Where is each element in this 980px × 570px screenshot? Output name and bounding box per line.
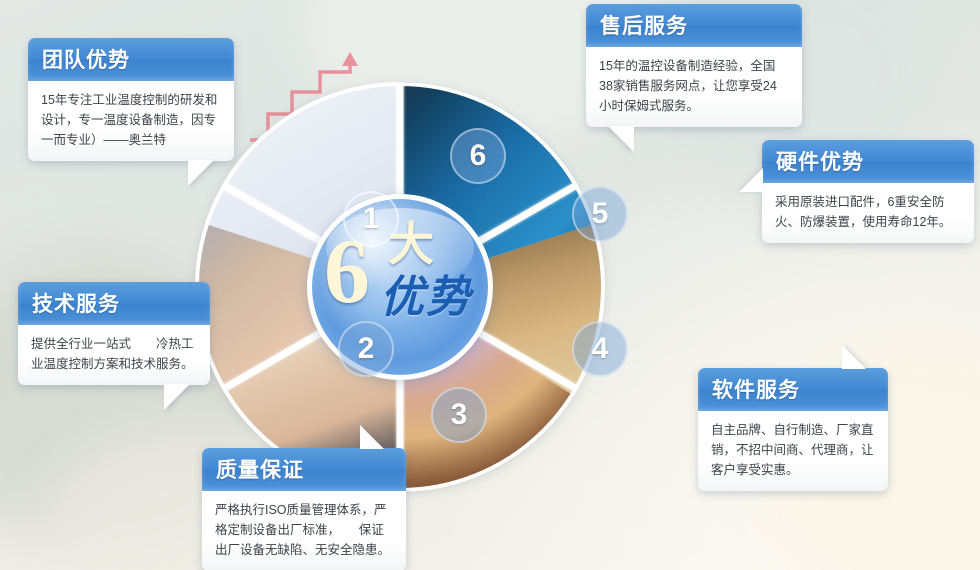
- hub-word-advantage: 优势: [380, 275, 472, 321]
- callout-tail: [360, 425, 384, 449]
- segment-number-4[interactable]: 4: [572, 321, 628, 377]
- callout-card-software[interactable]: 软件服务 自主品牌、自行制造、厂家直销，不招中间商、代理商，让客户享受实惠。: [698, 368, 888, 491]
- segment-number-6[interactable]: 6: [450, 128, 506, 184]
- callout-tail: [188, 160, 214, 186]
- callout-card-team[interactable]: 团队优势 15年专注工业温度控制的研发和设计，专一温度设备制造，因专一而专业）—…: [28, 38, 234, 161]
- six-advantages-wheel: 6 大 优势: [195, 82, 605, 492]
- card-body-hardware: 采用原装进口配件，6重安全防火、防爆装置，使用寿命12年。: [762, 183, 974, 243]
- callout-tail: [164, 384, 190, 410]
- card-body-technical: 提供全行业一站式 冷热工业温度控制方案和技术服务。: [18, 325, 210, 385]
- infographic-canvas: 6 大 优势 1 2 3 4 5 6 团队优势 15年专注工业温度控制的研发和设…: [0, 0, 980, 570]
- card-body-after-sales: 15年的温控设备制造经验，全国38家销售服务网点，让您享受24小时保姆式服务。: [586, 47, 802, 127]
- card-body-software: 自主品牌、自行制造、厂家直销，不招中间商、代理商，让客户享受实惠。: [698, 411, 888, 491]
- callout-card-quality[interactable]: 质量保证 严格执行ISO质量管理体系，严格定制设备出厂标准， 保证出厂设备无缺陷…: [202, 448, 406, 570]
- callout-card-hardware[interactable]: 硬件优势 采用原装进口配件，6重安全防火、防爆装置，使用寿命12年。: [762, 140, 974, 243]
- card-title-team: 团队优势: [28, 38, 234, 81]
- card-title-software: 软件服务: [698, 368, 888, 411]
- callout-tail: [608, 126, 634, 152]
- callout-tail: [842, 345, 866, 369]
- callout-tail: [739, 168, 763, 192]
- segment-number-5[interactable]: 5: [572, 186, 628, 242]
- card-title-technical: 技术服务: [18, 282, 210, 325]
- card-title-quality: 质量保证: [202, 448, 406, 491]
- card-body-team: 15年专注工业温度控制的研发和设计，专一温度设备制造，因专一而专业）——奥兰特: [28, 81, 234, 161]
- card-title-hardware: 硬件优势: [762, 140, 974, 183]
- center-hub: 6 大 优势: [307, 194, 493, 380]
- callout-card-after-sales[interactable]: 售后服务 15年的温控设备制造经验，全国38家销售服务网点，让您享受24小时保姆…: [586, 4, 802, 127]
- card-title-after-sales: 售后服务: [586, 4, 802, 47]
- segment-number-3[interactable]: 3: [431, 387, 487, 443]
- segment-number-1[interactable]: 1: [343, 191, 399, 247]
- card-body-quality: 严格执行ISO质量管理体系，严格定制设备出厂标准， 保证出厂设备无缺陷、无安全隐…: [202, 491, 406, 570]
- segment-number-2[interactable]: 2: [338, 321, 394, 377]
- callout-card-technical[interactable]: 技术服务 提供全行业一站式 冷热工业温度控制方案和技术服务。: [18, 282, 210, 385]
